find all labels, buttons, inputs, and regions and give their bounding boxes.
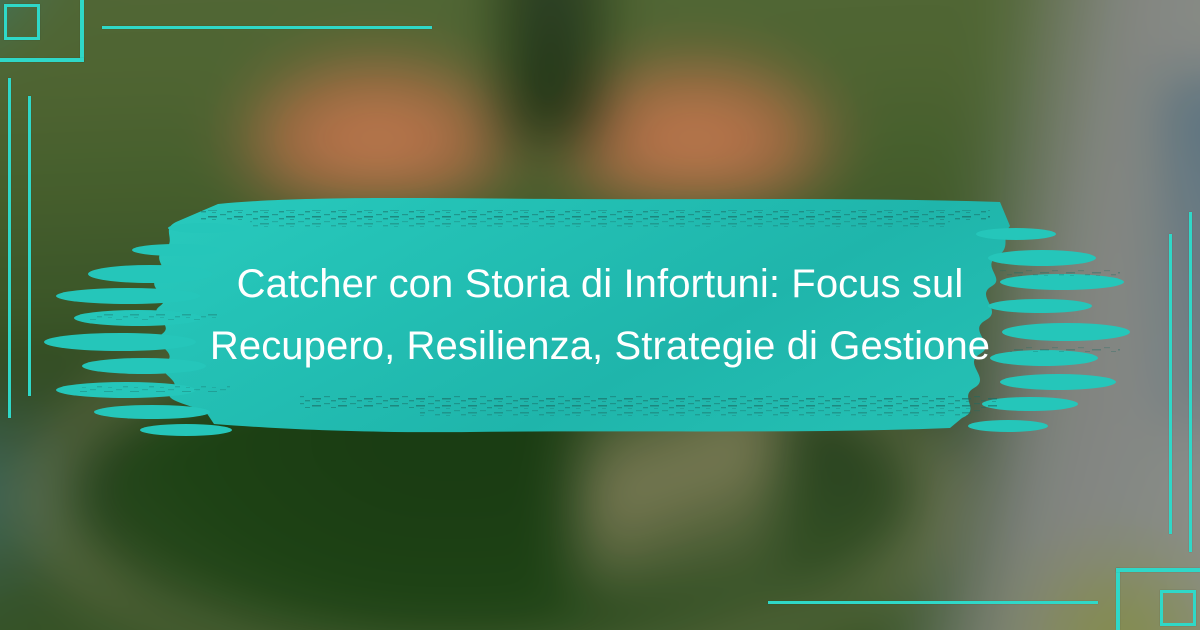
page-title: Catcher con Storia di Infortuni: Focus s… <box>0 186 1200 444</box>
social-share-card: Catcher con Storia di Infortuni: Focus s… <box>0 0 1200 630</box>
page-title-line-2: Recupero, Resilienza, Strategie di Gesti… <box>210 315 990 377</box>
page-title-line-1: Catcher con Storia di Infortuni: Focus s… <box>237 253 964 315</box>
